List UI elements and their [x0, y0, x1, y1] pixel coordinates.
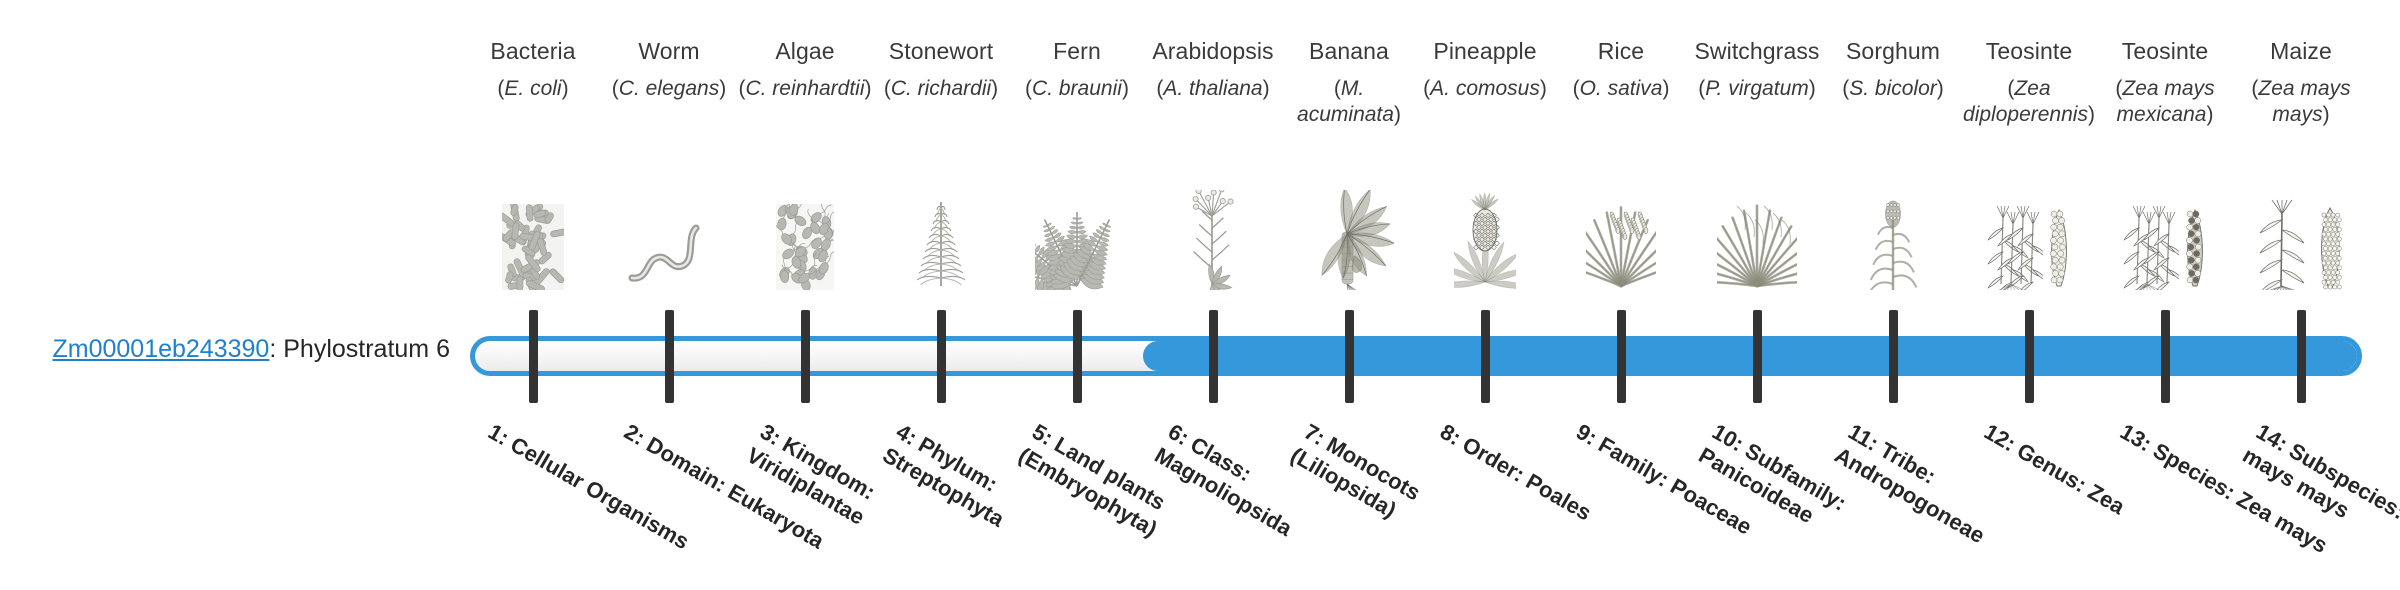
species-column-sorghum: Sorghum(S. bicolor): [1825, 36, 1961, 102]
species-column-teosinte: Teosinte(Zea diploperennis): [1961, 36, 2097, 128]
species-column-arabidopsis: Arabidopsis(A. thaliana): [1145, 36, 1281, 102]
stratum-tick-7[interactable]: [1345, 310, 1354, 403]
species-common-name: Stonewort: [873, 36, 1009, 66]
species-common-name: Sorghum: [1825, 36, 1961, 66]
species-common-name: Bacteria: [465, 36, 601, 66]
fern-icon: [1009, 178, 1145, 290]
rank-number: 1:: [484, 419, 513, 450]
maize-icon: [2233, 178, 2369, 290]
species-column-stonewort: Stonewort(C. richardii): [873, 36, 1009, 102]
stratum-tick-12[interactable]: [2025, 310, 2034, 403]
species-common-name: Worm: [601, 36, 737, 66]
species-latin-name: (E. coli): [465, 76, 601, 102]
species-column-maize: Maize(Zea mays mays): [2233, 36, 2369, 128]
rank-text: Order: Poales: [1458, 432, 1595, 526]
stratum-tick-4[interactable]: [937, 310, 946, 403]
rank-label-1: 1: Cellular Organisms: [484, 418, 714, 566]
species-column-worm: Worm(C. elegans): [601, 36, 737, 102]
banana-icon: [1281, 178, 1417, 290]
species-common-name: Maize: [2233, 36, 2369, 66]
species-latin-name: (Zea diploperennis): [1961, 76, 2097, 128]
species-column-switchgrass: Switchgrass(P. virgatum): [1689, 36, 1825, 102]
rank-number: 13:: [2116, 419, 2156, 457]
species-column-teosinte: Teosinte(Zea mays mexicana): [2097, 36, 2233, 128]
teosinte-mexicana-icon: [2097, 178, 2233, 290]
algae-icon: [737, 178, 873, 290]
stratum-tick-13[interactable]: [2161, 310, 2170, 403]
species-column-pineapple: Pineapple(A. comosus): [1417, 36, 1553, 102]
stratum-tick-1[interactable]: [529, 310, 538, 403]
species-latin-name: (C. elegans): [601, 76, 737, 102]
switchgrass-icon: [1689, 178, 1825, 290]
sorghum-icon: [1825, 178, 1961, 290]
stratum-tick-2[interactable]: [665, 310, 674, 403]
stratum-tick-9[interactable]: [1617, 310, 1626, 403]
phylostratum-timeline-figure: Zm00001eb243390: Phylostratum 6 Bacteria…: [0, 0, 2400, 580]
species-common-name: Pineapple: [1417, 36, 1553, 66]
stonewort-icon: [873, 178, 1009, 290]
species-common-name: Algae: [737, 36, 873, 66]
species-latin-name: (Zea mays mexicana): [2097, 76, 2233, 128]
arabidopsis-icon: [1145, 178, 1281, 290]
species-column-banana: Banana(M. acuminata): [1281, 36, 1417, 128]
species-column-algae: Algae(C. reinhardtii): [737, 36, 873, 102]
species-common-name: Teosinte: [1961, 36, 2097, 66]
stratum-tick-8[interactable]: [1481, 310, 1490, 403]
species-column-fern: Fern(C. braunii): [1009, 36, 1145, 102]
phylostratum-value: Phylostratum 6: [283, 335, 450, 363]
rank-number: 9:: [1572, 419, 1601, 450]
stratum-tick-5[interactable]: [1073, 310, 1082, 403]
stratum-tick-6[interactable]: [1209, 310, 1218, 403]
rank-number: 8:: [1436, 419, 1465, 450]
species-column-bacteria: Bacteria(E. coli): [465, 36, 601, 102]
bacteria-icon: [465, 178, 601, 290]
teosinte-diploperennis-icon: [1961, 178, 2097, 290]
species-latin-name: (A. comosus): [1417, 76, 1553, 102]
species-latin-name: (C. braunii): [1009, 76, 1145, 102]
species-column-rice: Rice(O. sativa): [1553, 36, 1689, 102]
rank-number: 2:: [620, 419, 649, 450]
species-common-name: Banana: [1281, 36, 1417, 66]
stratum-tick-3[interactable]: [801, 310, 810, 403]
species-latin-name: (C. reinhardtii): [737, 76, 873, 102]
species-latin-name: (C. richardii): [873, 76, 1009, 102]
species-common-name: Rice: [1553, 36, 1689, 66]
gene-id-link[interactable]: Zm00001eb243390: [52, 335, 269, 363]
rank-number: 12:: [1980, 419, 2020, 457]
rank-text: Genus: Zea: [2013, 438, 2129, 520]
species-latin-name: (P. virgatum): [1689, 76, 1825, 102]
species-common-name: Switchgrass: [1689, 36, 1825, 66]
phylostratum-progress-track[interactable]: [470, 336, 2362, 376]
stratum-tick-10[interactable]: [1753, 310, 1762, 403]
stratum-tick-11[interactable]: [1889, 310, 1898, 403]
worm-icon: [601, 178, 737, 290]
species-common-name: Arabidopsis: [1145, 36, 1281, 66]
species-latin-name: (A. thaliana): [1145, 76, 1281, 102]
stratum-tick-14[interactable]: [2297, 310, 2306, 403]
species-latin-name: (Zea mays mays): [2233, 76, 2369, 128]
gene-phylostratum-label: Zm00001eb243390: Phylostratum 6: [30, 335, 450, 364]
species-common-name: Fern: [1009, 36, 1145, 66]
rice-icon: [1553, 178, 1689, 290]
species-latin-name: (M. acuminata): [1281, 76, 1417, 128]
species-common-name: Teosinte: [2097, 36, 2233, 66]
pineapple-icon: [1417, 178, 1553, 290]
species-latin-name: (S. bicolor): [1825, 76, 1961, 102]
gene-label-separator: :: [269, 335, 283, 363]
species-latin-name: (O. sativa): [1553, 76, 1689, 102]
